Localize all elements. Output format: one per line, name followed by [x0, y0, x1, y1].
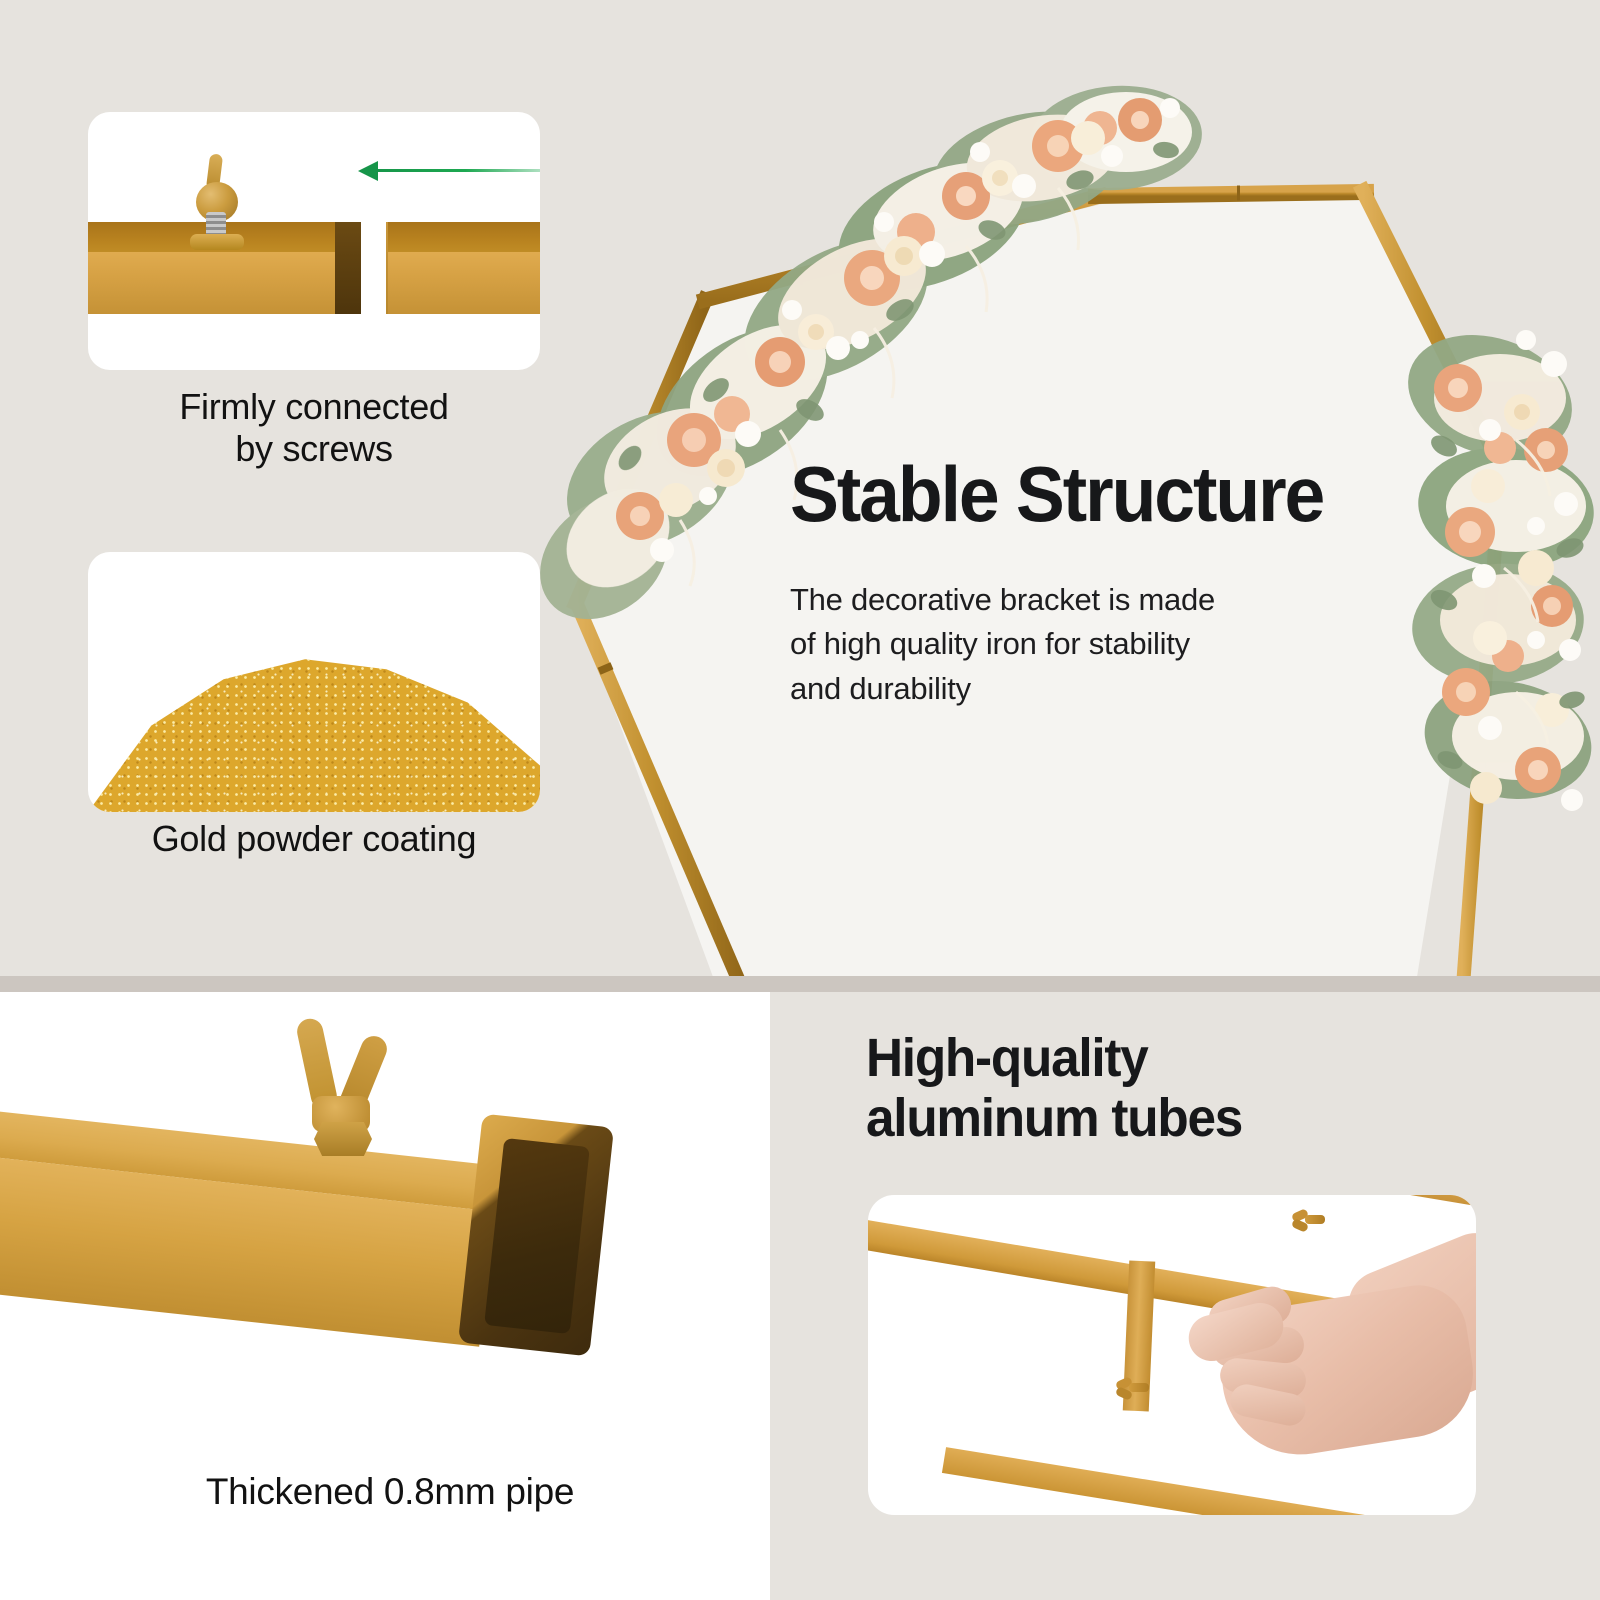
glitter-grain-texture	[88, 646, 540, 812]
caption-line-1: Firmly connected	[60, 386, 568, 428]
caption-gold-powder-coating: Gold powder coating	[60, 818, 568, 860]
screw-stem	[1305, 1215, 1325, 1224]
human-hand	[1164, 1257, 1476, 1497]
headline-line-2: aluminum tubes	[866, 1088, 1474, 1148]
wing-nut-assembly	[292, 1018, 412, 1168]
tube-open-end	[335, 222, 361, 314]
gold-glitter-dome	[88, 646, 540, 812]
hand-assembly-photo	[868, 1195, 1476, 1515]
assembly-arrow-line	[370, 169, 540, 172]
headline-line-1: High-quality	[866, 1028, 1474, 1088]
wing-screw-lower-icon	[1116, 1377, 1150, 1403]
wing-screw-icon	[184, 154, 248, 230]
tube-top-face	[388, 222, 540, 252]
caption-thickened-pipe: Thickened 0.8mm pipe	[40, 1470, 740, 1514]
card-firmly-connected-screws	[88, 112, 540, 370]
tube-front-face	[88, 252, 360, 314]
screw-base-flange	[190, 234, 244, 250]
card-hand-assembly	[868, 1195, 1476, 1515]
tube-front-face	[388, 252, 540, 314]
screw-stem	[1129, 1383, 1149, 1392]
caption-line-2: by screws	[60, 428, 568, 470]
wing-screw-upper-icon	[1292, 1209, 1322, 1231]
top-section: Firmly connected by screws Gold powder c…	[0, 0, 1600, 976]
section-divider-band	[0, 976, 1600, 992]
body-line-3: and durability	[790, 667, 1350, 711]
assembly-arrow-head-icon	[358, 161, 378, 181]
body-line-1: The decorative bracket is made	[790, 578, 1350, 622]
infographic-canvas: Firmly connected by screws Gold powder c…	[0, 0, 1600, 1600]
aluminum-tube-body	[0, 1111, 499, 1347]
headline-stable-structure: Stable Structure	[790, 455, 1429, 533]
body-line-2: of high quality iron for stability	[790, 622, 1350, 666]
bottom-section: High-quality aluminum tubes	[0, 992, 1600, 1600]
card-gold-powder-coating	[88, 552, 540, 812]
body-stable-structure: The decorative bracket is made of high q…	[790, 578, 1350, 711]
headline-aluminum-tubes: High-quality aluminum tubes	[866, 1028, 1474, 1149]
caption-firmly-connected: Firmly connected by screws	[60, 386, 568, 471]
hex-nut	[314, 1122, 372, 1156]
gold-tube-right	[388, 222, 540, 314]
